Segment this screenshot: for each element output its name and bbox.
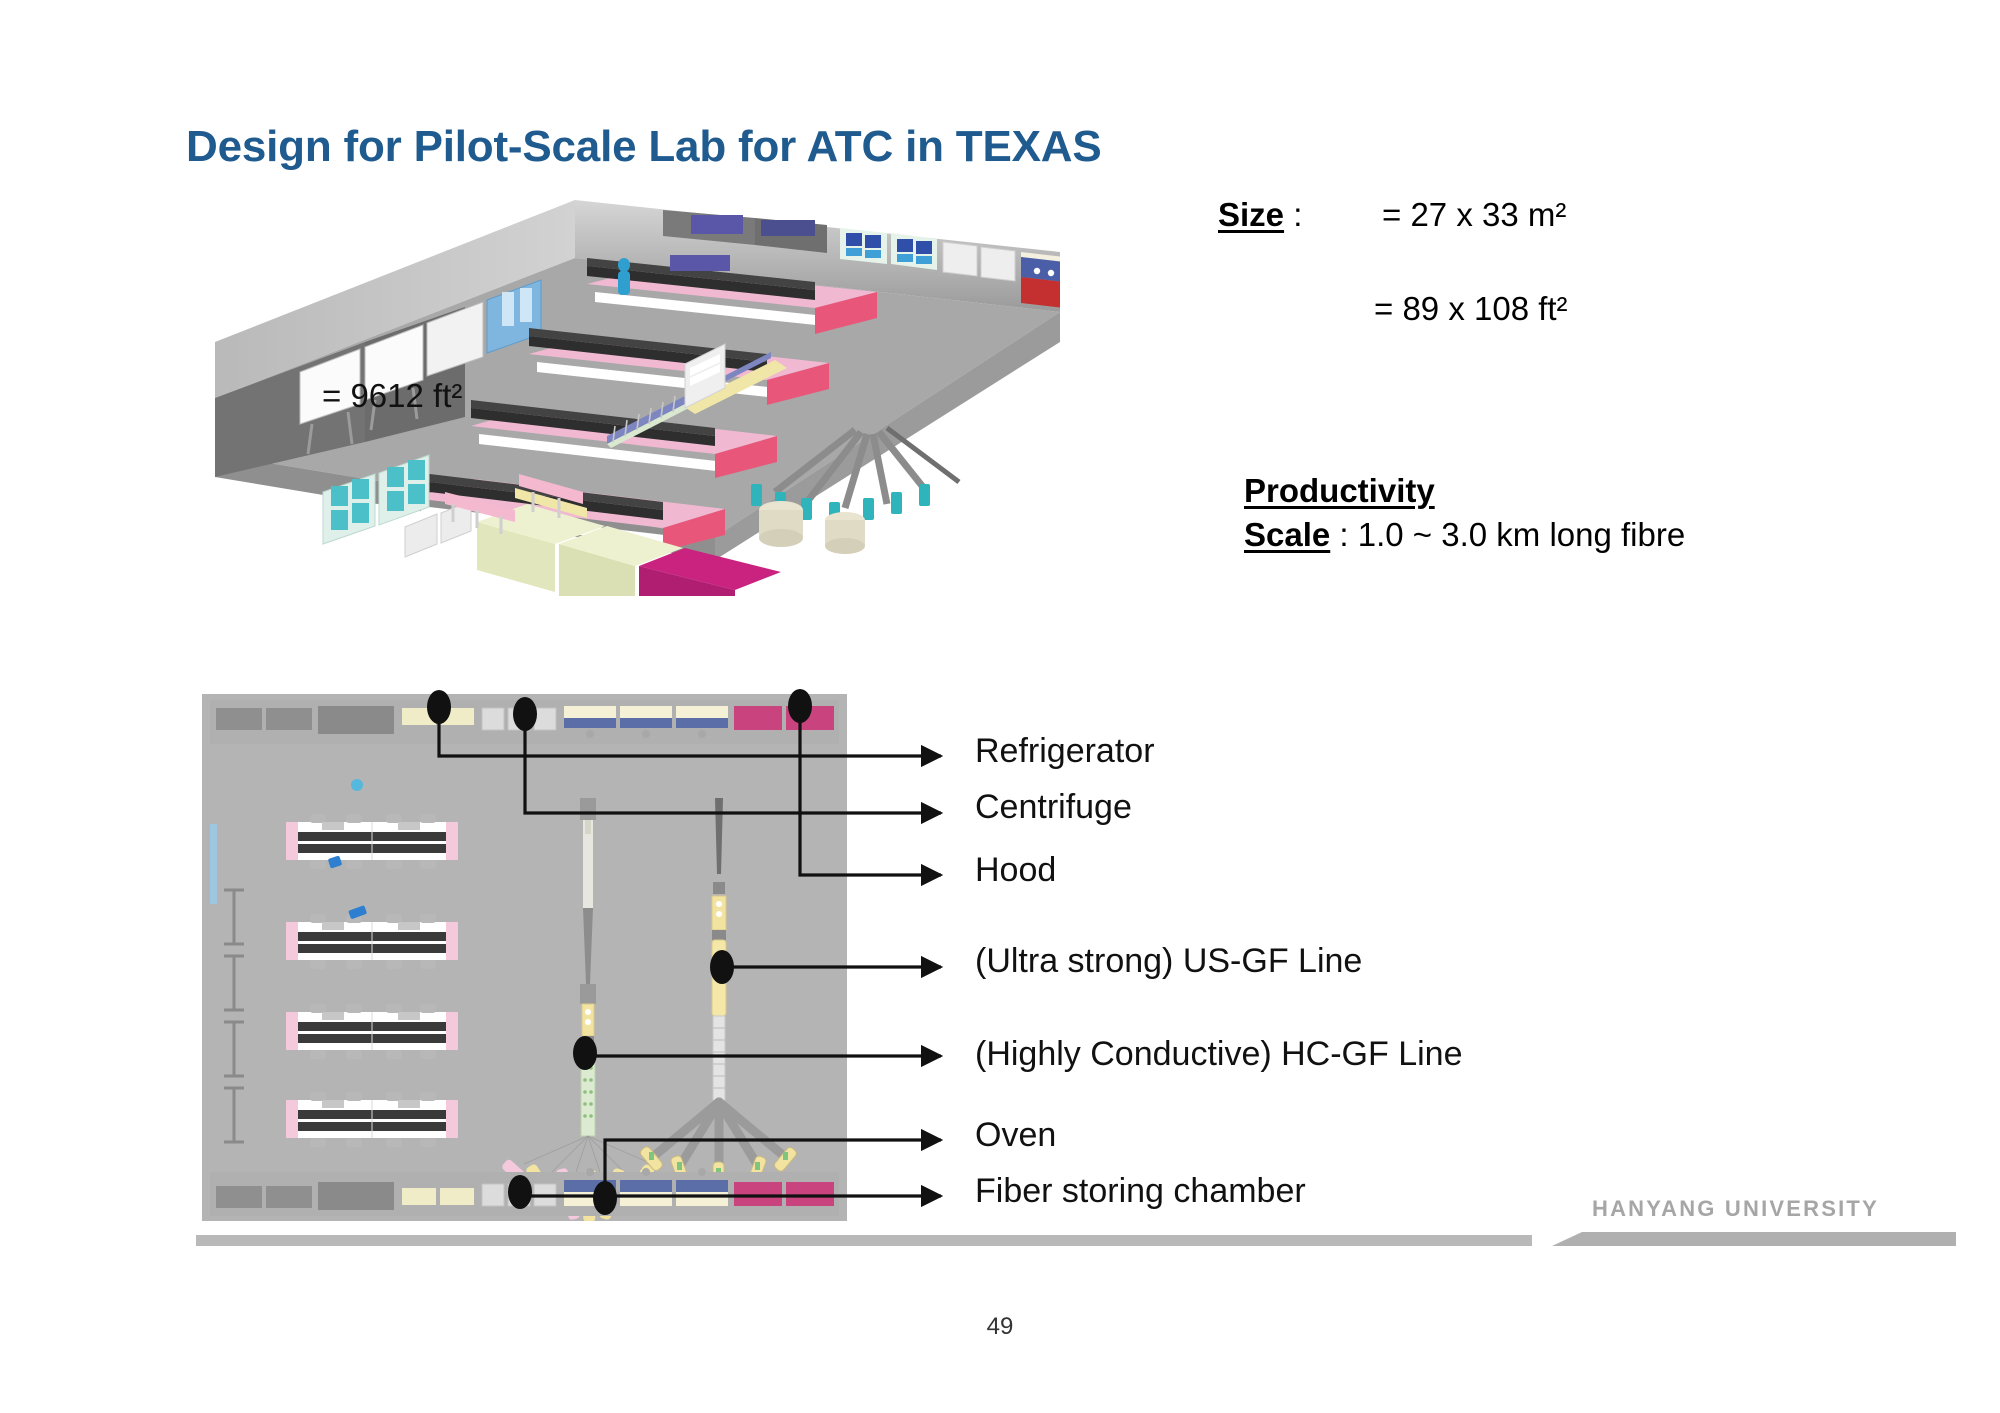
callout-oven: Oven <box>975 1116 1056 1155</box>
callout-refrigerator: Refrigerator <box>975 732 1155 771</box>
callout-hc-gf-line: (Highly Conductive) HC-GF Line <box>975 1035 1463 1074</box>
size-value-metric: = 27 x 33 m² <box>1382 196 1566 234</box>
callout-hood: Hood <box>975 851 1056 890</box>
scale-value: : 1.0 ~ 3.0 km long fibre <box>1330 516 1685 553</box>
render-area-label: = 9612 ft² <box>322 377 462 415</box>
lab-floorplan <box>202 694 847 1221</box>
hanyang-university-logo: HANYANG UNIVERSITY <box>1592 1196 1879 1222</box>
size-value-imperial: = 89 x 108 ft² <box>1374 290 1568 328</box>
callout-fiber-storing-chamber: Fiber storing chamber <box>975 1172 1306 1211</box>
size-label-text: Size <box>1218 196 1284 233</box>
productivity-label: Productivity <box>1244 472 1435 510</box>
floorplan-svg <box>202 694 847 1221</box>
footer-bar <box>196 1232 1956 1248</box>
scale-label: Scale <box>1244 516 1330 553</box>
scale-line: Scale : 1.0 ~ 3.0 km long fibre <box>1244 516 1685 554</box>
slide-canvas: Design for Pilot-Scale Lab for ATC in TE… <box>0 0 2000 1413</box>
page-number: 49 <box>0 1313 2000 1341</box>
page-title: Design for Pilot-Scale Lab for ATC in TE… <box>186 122 1102 172</box>
size-colon: : <box>1284 196 1302 233</box>
callout-centrifuge: Centrifuge <box>975 788 1132 827</box>
size-label: Size : <box>1218 196 1302 234</box>
callout-us-gf-line: (Ultra strong) US-GF Line <box>975 942 1362 981</box>
